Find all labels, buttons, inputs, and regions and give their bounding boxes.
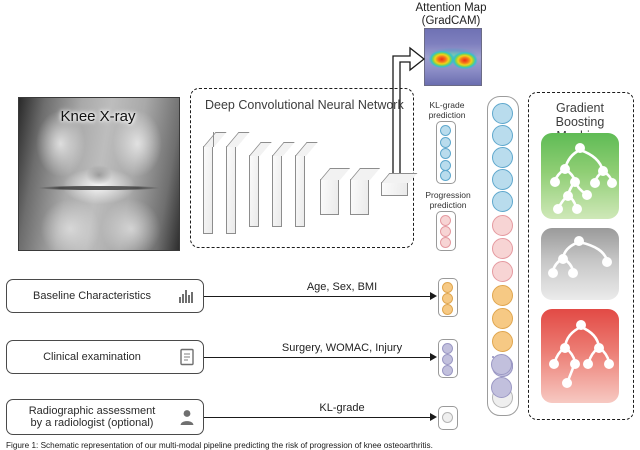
feature-dot-progression: [492, 261, 513, 282]
clinical-arrow-head: [430, 353, 437, 361]
baseline-dot: [442, 293, 453, 304]
kl-grade-dot: [440, 125, 451, 136]
baseline-dot: [442, 304, 453, 315]
radiographic-arrow-label: KL-grade: [272, 402, 412, 414]
feature-dot-klgrade: [492, 169, 513, 190]
kl-grade-dot: [440, 148, 451, 159]
kl-grade-caption-line2: prediction: [424, 110, 470, 120]
figure-caption: Figure 1: Schematic representation of ou…: [6, 441, 634, 450]
radiographic-assessment-label: Radiographic assessment by a radiologist…: [15, 400, 169, 434]
clinical-arrow-line: [204, 357, 430, 358]
cnn-layer-1: [203, 146, 213, 234]
xray-joint-space: [38, 186, 160, 190]
attention-map-caption: Attention Map (GradCAM): [398, 2, 504, 28]
radiographic-label-line1: Radiographic assessment: [29, 405, 156, 418]
clinical-examination-label: Clinical examination: [15, 341, 169, 373]
baseline-arrow-head: [430, 292, 437, 300]
radiographic-dot: [442, 412, 453, 423]
baseline-feature-group: [438, 278, 458, 317]
person-icon: [178, 408, 196, 426]
radiographic-label-line2: by a radiologist (optional): [29, 417, 156, 430]
cnn-layer-2: [226, 146, 236, 234]
baseline-characteristics-box[interactable]: Baseline Characteristics: [6, 279, 204, 313]
progression-prediction-group: [436, 211, 456, 251]
progression-caption-line1: Progression: [422, 190, 474, 200]
clinical-feature-group: [438, 339, 458, 378]
cnn-layer-5: [295, 155, 305, 227]
feature-dot-progression: [492, 215, 513, 236]
feature-dot-baseline: [492, 308, 513, 329]
progression-prediction-caption: Progression prediction: [422, 190, 474, 210]
radiographic-arrow-head: [430, 413, 437, 421]
gbm-tree-gray: [541, 228, 619, 300]
progression-dot: [440, 215, 451, 226]
clinical-dot: [442, 354, 453, 365]
feature-dot-baseline: [492, 285, 513, 306]
progression-caption-line2: prediction: [422, 200, 474, 210]
gbm-title-line1: Gradient Boosting: [531, 101, 629, 129]
kl-grade-dot: [440, 170, 451, 181]
baseline-characteristics-label: Baseline Characteristics: [15, 280, 169, 312]
cnn-layer-4: [272, 155, 282, 227]
kl-grade-prediction-group: [436, 121, 456, 184]
baseline-dot: [442, 282, 453, 293]
baseline-arrow-label: Age, Sex, BMI: [252, 281, 432, 293]
feature-dot-klgrade: [492, 191, 513, 212]
gbm-tree-red: [541, 309, 619, 403]
cnn-layer-3: [249, 155, 259, 227]
attention-map-title-line1: Attention Map: [398, 2, 504, 15]
document-icon: [178, 348, 196, 366]
xray-notch: [86, 165, 112, 185]
progression-dot: [440, 226, 451, 237]
feature-dot-klgrade: [492, 125, 513, 146]
knee-xray-label: Knee X-ray: [18, 108, 178, 125]
cnn-layer-8-fc: [381, 182, 408, 196]
attention-map-title-line2: (GradCAM): [398, 15, 504, 28]
cnn-title: Deep Convolutional Neural Network: [205, 98, 404, 112]
radiographic-assessment-box[interactable]: Radiographic assessment by a radiologist…: [6, 399, 204, 435]
feature-dot-clinical: [491, 354, 512, 375]
kl-grade-dot: [440, 160, 451, 171]
clinical-examination-box[interactable]: Clinical examination: [6, 340, 204, 374]
feature-dot-klgrade: [492, 147, 513, 168]
baseline-arrow-line: [204, 296, 430, 297]
kl-grade-caption-line1: KL-grade: [424, 100, 470, 110]
radiographic-feature-group: [438, 406, 458, 430]
kl-grade-prediction-caption: KL-grade prediction: [424, 100, 470, 120]
cnn-layer-6: [320, 179, 339, 215]
feature-dot-clinical: [491, 377, 512, 398]
feature-dot-klgrade: [492, 103, 513, 124]
feature-dot-baseline: [492, 331, 513, 352]
cnn-layer-7: [350, 179, 369, 215]
feature-dot-progression: [492, 238, 513, 259]
radiographic-arrow-line: [204, 417, 430, 418]
clinical-arrow-label: Surgery, WOMAC, Injury: [242, 342, 442, 354]
progression-dot: [440, 237, 451, 248]
kl-grade-dot: [440, 137, 451, 148]
bar-chart-icon: [178, 287, 196, 305]
gbm-tree-green: [541, 133, 619, 219]
clinical-dot: [442, 365, 453, 376]
clinical-dot: [442, 343, 453, 354]
